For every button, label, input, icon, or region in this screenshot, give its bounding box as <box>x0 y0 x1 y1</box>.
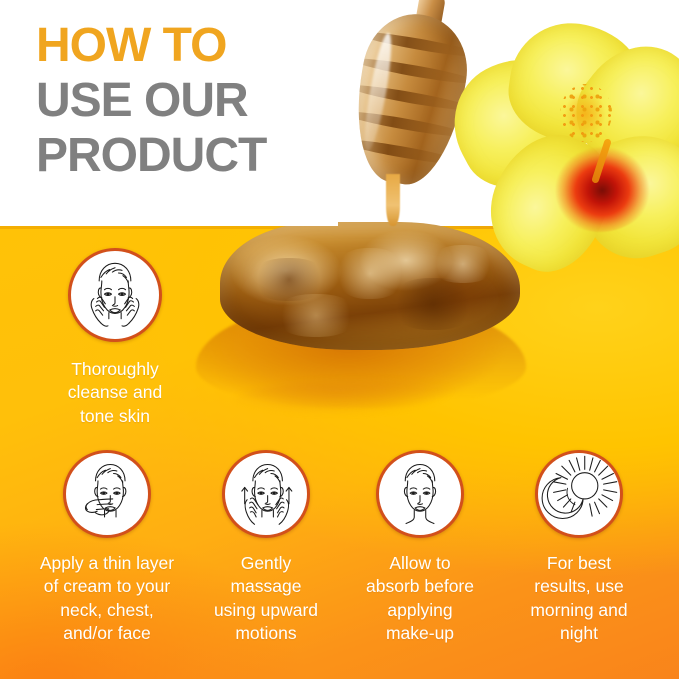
sun-moon-icon <box>535 450 623 538</box>
step-caption: For best results, use morning and night <box>494 552 664 645</box>
caption-line: applying <box>340 599 500 622</box>
face-massage-upward-icon <box>222 450 310 538</box>
step-caption: Apply a thin layer of cream to your neck… <box>12 552 202 645</box>
caption-line: massage <box>186 575 346 598</box>
caption-line: Thoroughly <box>20 358 210 381</box>
step-item-morning-night: For best results, use morning and night <box>494 450 664 645</box>
step-caption: Allow to absorb before applying make-up <box>340 552 500 645</box>
caption-line: Gently <box>186 552 346 575</box>
caption-line: tone skin <box>20 405 210 428</box>
caption-line: night <box>494 622 664 645</box>
face-apply-cream-icon <box>63 450 151 538</box>
title-line-use-our: USE OUR <box>36 77 326 125</box>
honey-stream <box>386 174 400 226</box>
honey-drip-shape <box>232 380 492 426</box>
how-to-use-poster: HOW TO USE OUR PRODUCT <box>0 0 679 679</box>
face-cleanse-icon <box>68 248 162 342</box>
caption-line: Apply a thin layer <box>12 552 202 575</box>
hibiscus-flower <box>448 20 679 266</box>
caption-line: morning and <box>494 599 664 622</box>
step-caption: Thoroughly cleanse and tone skin <box>20 358 210 428</box>
caption-line: motions <box>186 622 346 645</box>
step-item-absorb: Allow to absorb before applying make-up <box>340 450 500 645</box>
caption-line: make-up <box>340 622 500 645</box>
step-item-cleanse: Thoroughly cleanse and tone skin <box>20 248 210 428</box>
caption-line: For best <box>494 552 664 575</box>
flower-center <box>544 128 656 232</box>
caption-line: absorb before <box>340 575 500 598</box>
caption-line: neck, chest, <box>12 599 202 622</box>
title-line-product: PRODUCT <box>36 132 326 180</box>
page-title: HOW TO USE OUR PRODUCT <box>36 22 326 187</box>
step-caption: Gently massage using upward motions <box>186 552 346 645</box>
caption-line: cleanse and <box>20 381 210 404</box>
caption-line: results, use <box>494 575 664 598</box>
caption-line: of cream to your <box>12 575 202 598</box>
caption-line: Allow to <box>340 552 500 575</box>
step-item-massage: Gently massage using upward motions <box>186 450 346 645</box>
title-line-how-to: HOW TO <box>36 22 326 70</box>
face-plain-icon <box>376 450 464 538</box>
caption-line: and/or face <box>12 622 202 645</box>
caption-line: using upward <box>186 599 346 622</box>
step-item-apply-cream: Apply a thin layer of cream to your neck… <box>12 450 202 645</box>
